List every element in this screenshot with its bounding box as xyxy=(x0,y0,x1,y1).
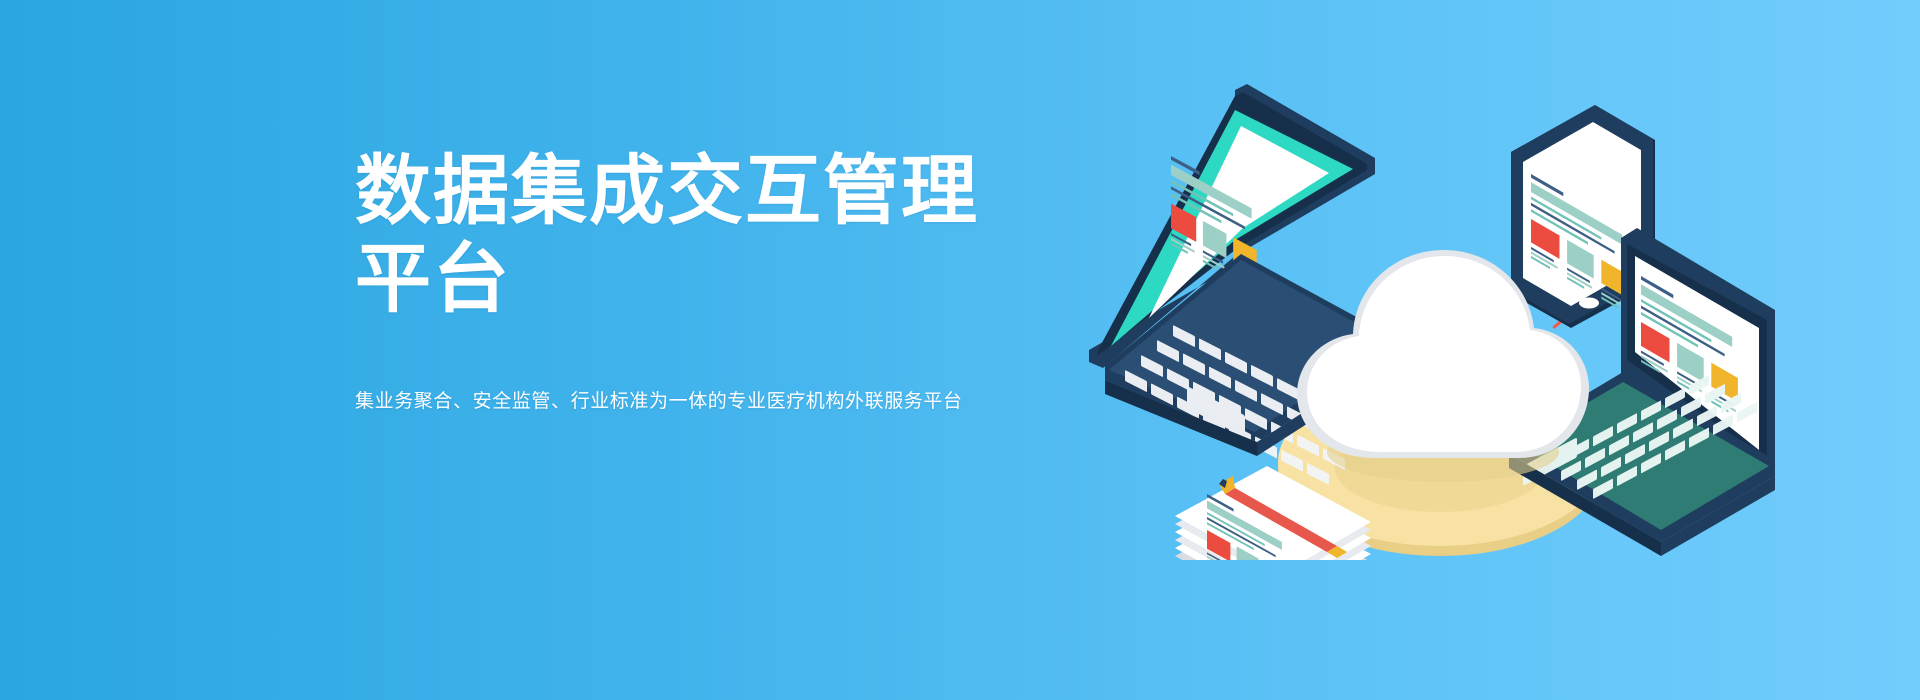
hero-illustration: 数据集成交互 管理平台 xyxy=(1075,70,1835,560)
hero-subtitle: 集业务聚合、安全监管、行业标准为一体的专业医疗机构外联服务平台 xyxy=(355,388,963,416)
hero-banner: 数据集成交互管理 平台 集业务聚合、安全监管、行业标准为一体的专业医疗机构外联服… xyxy=(0,0,1920,700)
hero-copy: 数据集成交互管理 平台 xyxy=(355,148,995,324)
page-title: 数据集成交互管理 平台 xyxy=(355,148,995,324)
